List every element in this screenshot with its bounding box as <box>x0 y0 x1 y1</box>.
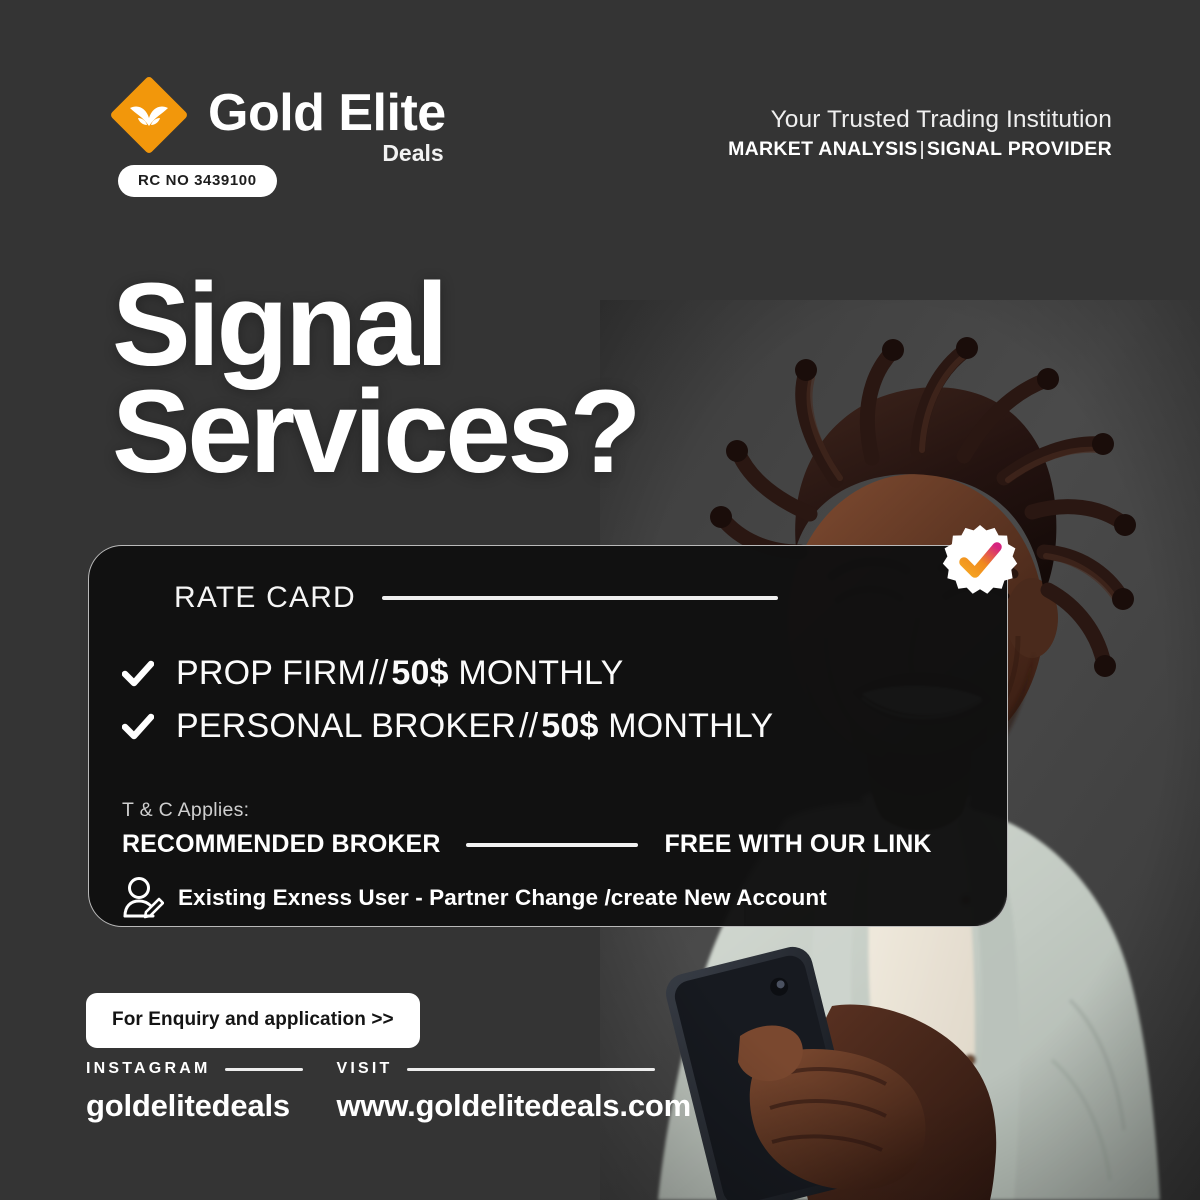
exness-note-row: Existing Exness User - Partner Change /c… <box>122 876 827 920</box>
user-edit-icon <box>122 876 164 920</box>
check-icon <box>122 659 154 689</box>
rate-item-separator: // <box>516 707 541 745</box>
brand-lockup: Gold Elite Deals <box>108 74 446 156</box>
tagline-line-2: MARKET ANALYSIS|SIGNAL PROVIDER <box>728 137 1112 162</box>
instagram-label-row: INSTAGRAM <box>86 1060 303 1078</box>
tagline-signal-provider: SIGNAL PROVIDER <box>927 138 1112 160</box>
footer-visit-block: VISIT www.goldelitedeals.com <box>337 1060 691 1124</box>
tagline-divider: | <box>918 138 927 160</box>
footer-contact: INSTAGRAM goldelitedeals VISIT www.golde… <box>86 1060 691 1124</box>
enquiry-application-button[interactable]: For Enquiry and application >> <box>86 993 420 1048</box>
rc-number-badge: RC NO 3439100 <box>118 165 277 197</box>
visit-label-rule <box>407 1068 655 1071</box>
brand-sub: Deals <box>382 142 443 165</box>
diamond-bull-logo-icon <box>108 74 190 156</box>
check-icon <box>122 712 154 742</box>
rate-item-label: PROP FIRM <box>176 654 366 692</box>
exness-note-text: Existing Exness User - Partner Change /c… <box>178 885 827 911</box>
instagram-label: INSTAGRAM <box>86 1060 211 1078</box>
poster-root: Gold Elite Deals RC NO 3439100 Your Trus… <box>0 0 1200 1200</box>
brand-name: Gold Elite <box>208 87 446 139</box>
free-with-link-label: FREE WITH OUR LINK <box>664 830 931 859</box>
rate-item-label: PERSONAL BROKER <box>176 707 516 745</box>
rate-card-list: PROP FIRM//50$ MONTHLY PERSONAL BROKER//… <box>122 654 773 760</box>
recommended-broker-label: RECOMMENDED BROKER <box>122 830 440 859</box>
rate-card-title: RATE CARD <box>174 581 356 615</box>
rate-card-header: RATE CARD <box>174 581 778 615</box>
website-url[interactable]: www.goldelitedeals.com <box>337 1088 691 1124</box>
rate-item-text: PROP FIRM//50$ MONTHLY <box>176 654 623 693</box>
rate-item-text: PERSONAL BROKER//50$ MONTHLY <box>176 707 773 746</box>
list-item: PERSONAL BROKER//50$ MONTHLY <box>122 707 773 746</box>
instagram-label-rule <box>225 1068 303 1071</box>
list-item: PROP FIRM//50$ MONTHLY <box>122 654 773 693</box>
visit-label: VISIT <box>337 1060 393 1078</box>
rate-item-period: MONTHLY <box>608 707 773 745</box>
rate-item-price: 50$ <box>391 654 448 692</box>
rate-card-title-rule <box>382 596 778 600</box>
visit-label-row: VISIT <box>337 1060 691 1078</box>
rate-item-period: MONTHLY <box>458 654 623 692</box>
rate-card-panel: RATE CARD PROP FIRM//50$ MONTHLY <box>88 545 1008 927</box>
rate-item-separator: // <box>366 654 391 692</box>
terms-label: T & C Applies: <box>122 799 249 822</box>
header-tagline: Your Trusted Trading Institution MARKET … <box>728 105 1112 162</box>
verified-check-badge-icon <box>942 523 1018 599</box>
recommended-broker-row: RECOMMENDED BROKER FREE WITH OUR LINK <box>122 830 932 859</box>
instagram-handle[interactable]: goldelitedeals <box>86 1088 303 1124</box>
headline-line-2: Services? <box>112 379 638 486</box>
tagline-line-1: Your Trusted Trading Institution <box>728 105 1112 136</box>
footer-instagram-block: INSTAGRAM goldelitedeals <box>86 1060 303 1124</box>
broker-row-rule <box>466 843 638 847</box>
tagline-market-analysis: MARKET ANALYSIS <box>728 138 917 160</box>
page-title: Signal Services? <box>112 272 638 487</box>
rate-item-price: 50$ <box>541 707 598 745</box>
